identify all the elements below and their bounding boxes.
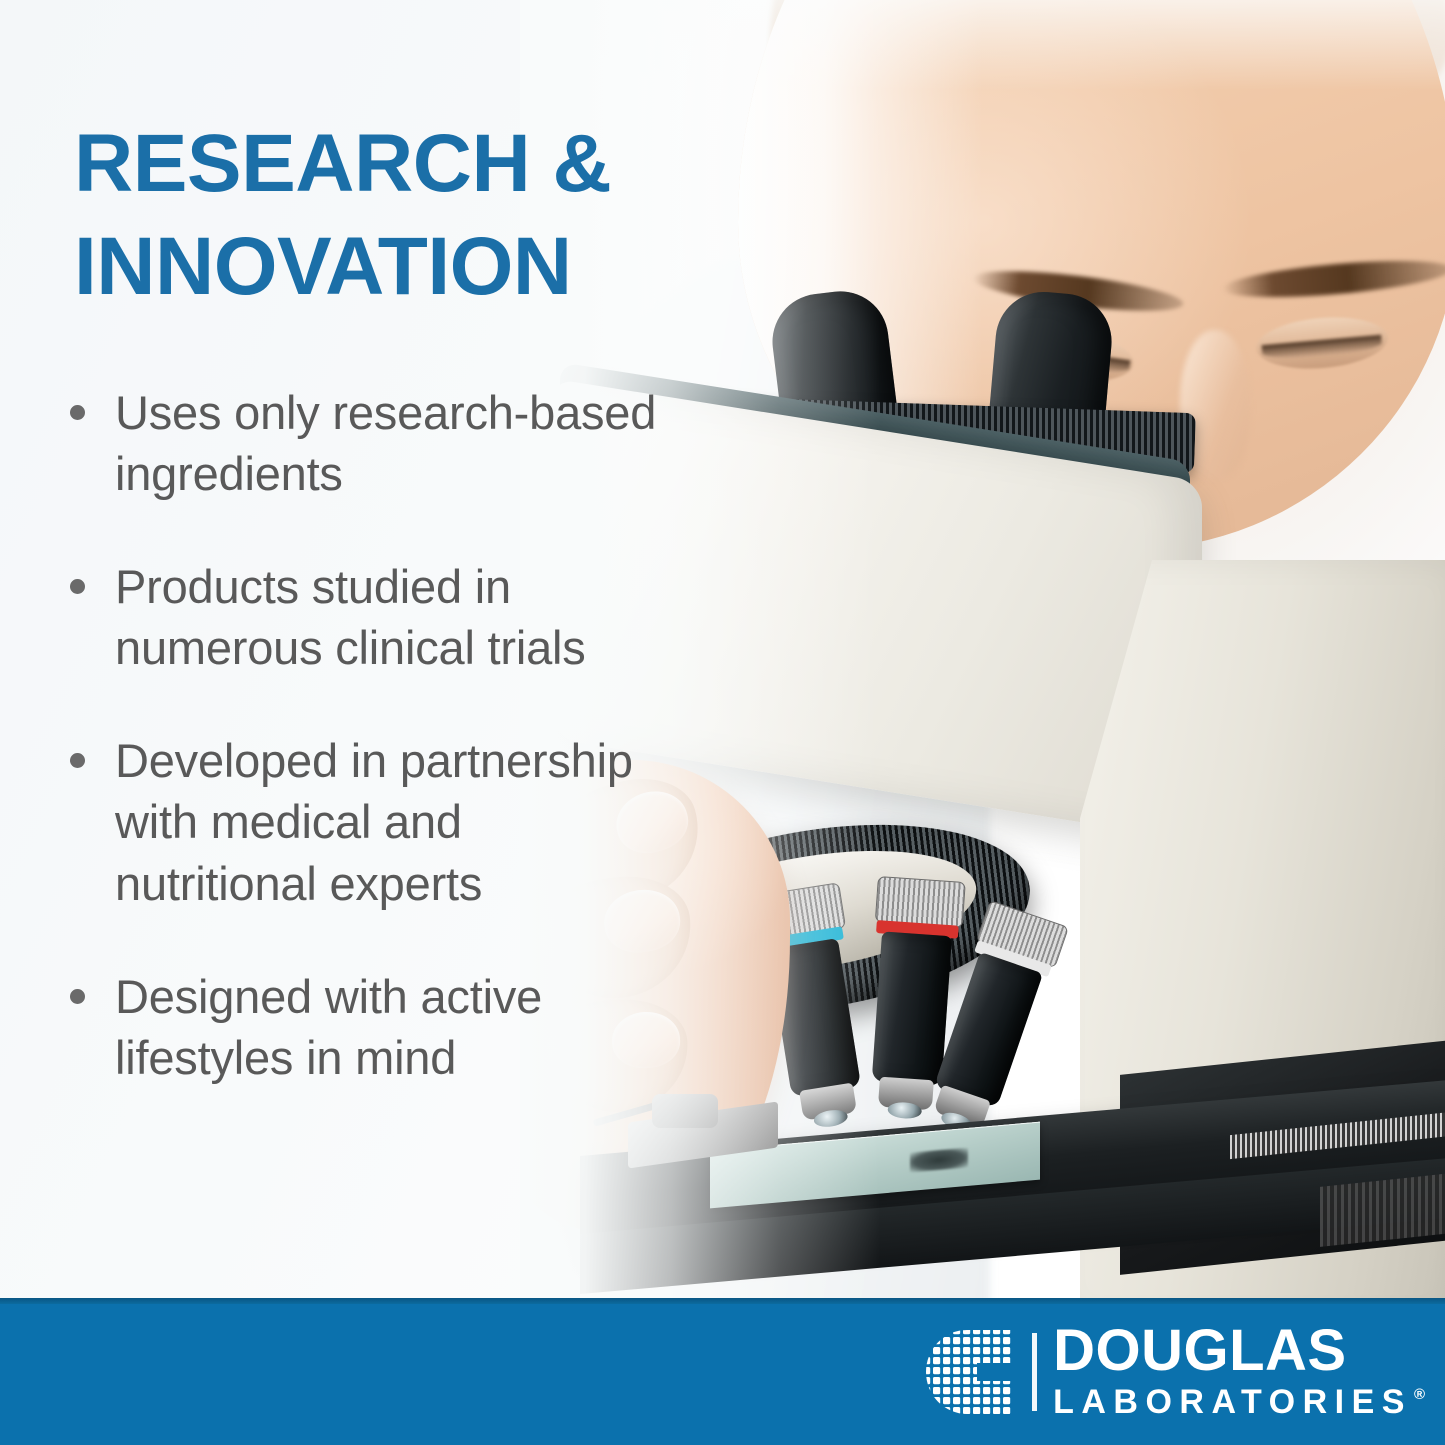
bullet-text: Products studied in numerous clinical tr… bbox=[115, 556, 586, 678]
logo-brand-secondary-row: LABORATORIES ® bbox=[1053, 1385, 1425, 1421]
brand-footer-bar: DOUGLAS LABORATORIES ® bbox=[0, 1298, 1445, 1445]
bullet-dot-icon bbox=[70, 405, 85, 420]
bullet-dot-icon bbox=[70, 579, 85, 594]
bullet-dot-icon bbox=[70, 989, 85, 1004]
logo-brand-primary: DOUGLAS bbox=[1053, 1323, 1425, 1379]
douglas-laboratories-logo: DOUGLAS LABORATORIES ® bbox=[921, 1322, 1425, 1422]
poster-canvas: RESEARCH & INNOVATION Uses only research… bbox=[0, 0, 1445, 1445]
footer-top-edge bbox=[0, 1298, 1445, 1304]
slide-clip-knob bbox=[652, 1094, 718, 1128]
list-item: Developed in partnership with medical an… bbox=[70, 730, 810, 913]
bullet-dot-icon bbox=[70, 753, 85, 768]
logo-brand-secondary: LABORATORIES bbox=[1053, 1385, 1412, 1421]
feature-bullet-list: Uses only research-based ingredients Pro… bbox=[70, 382, 810, 1088]
bullet-text: Developed in partnership with medical an… bbox=[115, 730, 633, 913]
page-title: RESEARCH & INNOVATION bbox=[74, 112, 714, 319]
list-item: Uses only research-based ingredients bbox=[70, 382, 810, 504]
logo-wordmark: DOUGLAS LABORATORIES ® bbox=[1053, 1323, 1425, 1420]
list-item: Products studied in numerous clinical tr… bbox=[70, 556, 810, 678]
bullet-text: Uses only research-based ingredients bbox=[115, 382, 656, 504]
logo-divider bbox=[1032, 1333, 1037, 1411]
douglas-grid-c-icon bbox=[921, 1325, 1019, 1419]
registered-trademark-icon: ® bbox=[1414, 1387, 1425, 1402]
bullet-text: Designed with active lifestyles in mind bbox=[115, 966, 542, 1088]
list-item: Designed with active lifestyles in mind bbox=[70, 966, 810, 1088]
